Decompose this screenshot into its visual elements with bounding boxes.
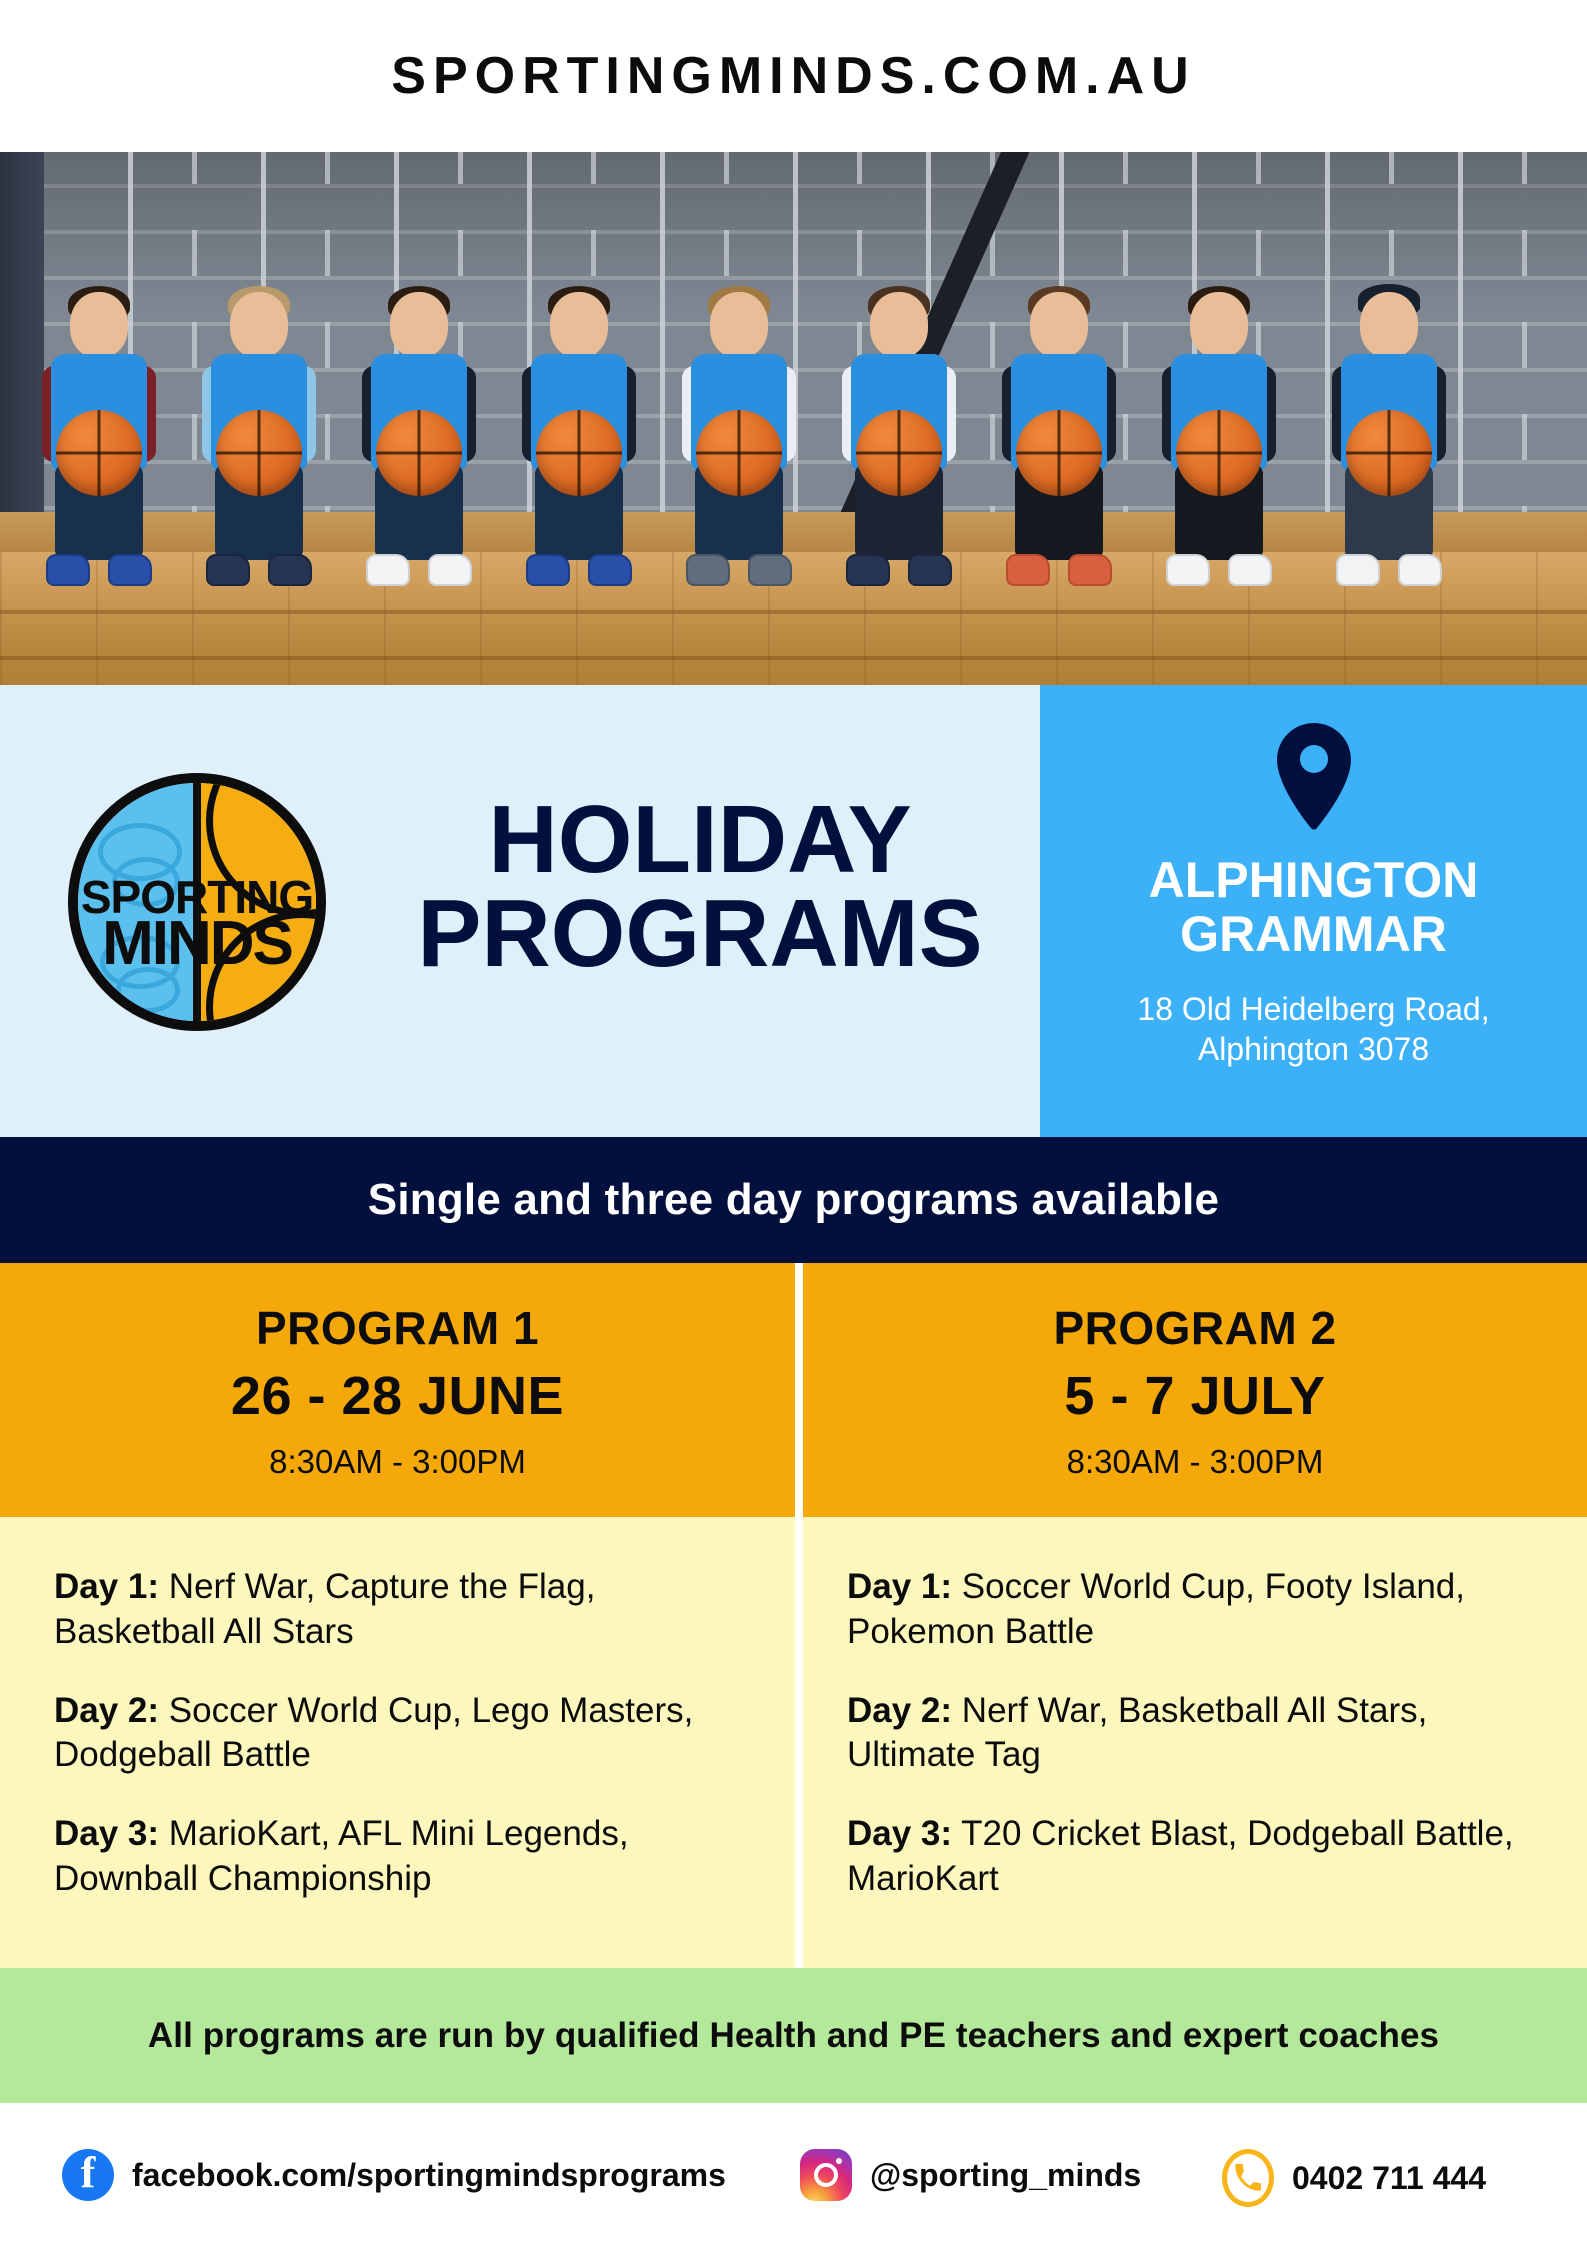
child-figure xyxy=(1330,292,1448,592)
child-figure xyxy=(360,292,478,592)
day-label: Day 3: xyxy=(54,1814,159,1853)
program-2-header: PROGRAM 2 5 - 7 JULY 8:30AM - 3:00PM xyxy=(803,1263,1587,1517)
facebook-icon[interactable] xyxy=(62,2149,114,2201)
availability-banner-text: Single and three day programs available xyxy=(368,1175,1219,1225)
venue-address: 18 Old Heidelberg Road, Alphington 3078 xyxy=(1080,989,1547,1069)
instagram-icon[interactable] xyxy=(800,2149,852,2201)
logo-wordmark: SPORTING MINDS xyxy=(56,877,338,972)
facebook-label[interactable]: facebook.com/sportingmindsprograms xyxy=(132,2157,726,2194)
venue-address-line2: Alphington 3078 xyxy=(1080,1029,1547,1069)
day-label: Day 2: xyxy=(54,1691,159,1730)
child-figure xyxy=(840,292,958,592)
phone-contact[interactable]: 0402 711 444 xyxy=(1222,2149,1486,2207)
floor-seam xyxy=(0,610,1587,614)
list-item: Day 2: Soccer World Cup, Lego Masters, D… xyxy=(54,1689,753,1779)
child-figure xyxy=(200,292,318,592)
website-header: SPORTINGMINDS.COM.AU xyxy=(0,0,1587,152)
program-1-activities: Day 1: Nerf War, Capture the Flag, Baske… xyxy=(0,1517,795,1968)
day-label: Day 1: xyxy=(847,1567,952,1606)
program-1-day-list: Day 1: Nerf War, Capture the Flag, Baske… xyxy=(0,1517,795,1902)
list-item: Day 2: Nerf War, Basketball All Stars, U… xyxy=(847,1689,1547,1779)
day-label: Day 2: xyxy=(847,1691,952,1730)
child-figure xyxy=(1160,292,1278,592)
program-2-dates: 5 - 7 JULY xyxy=(803,1365,1587,1427)
sporting-minds-logo: SPORTING MINDS xyxy=(68,773,326,1031)
phone-icon[interactable] xyxy=(1222,2149,1274,2207)
contact-footer: facebook.com/sportingmindsprograms @spor… xyxy=(0,2103,1587,2245)
list-item: Day 1: Soccer World Cup, Footy Island, P… xyxy=(847,1565,1547,1655)
venue-name-line2: GRAMMAR xyxy=(1080,907,1547,961)
venue-address-line1: 18 Old Heidelberg Road, xyxy=(1080,989,1547,1029)
wall-edge-post xyxy=(0,152,44,552)
program-2-title: PROGRAM 2 xyxy=(803,1301,1587,1355)
day-label: Day 3: xyxy=(847,1814,952,1853)
venue-name-line1: ALPHINGTON xyxy=(1080,853,1547,907)
page-title: HOLIDAY PROGRAMS xyxy=(380,793,1020,981)
list-item: Day 3: T20 Cricket Blast, Dodgeball Batt… xyxy=(847,1812,1547,1902)
map-pin-icon xyxy=(1273,721,1355,833)
child-figure xyxy=(680,292,798,592)
program-2-activities: Day 1: Soccer World Cup, Footy Island, P… xyxy=(803,1517,1587,1968)
child-figure xyxy=(520,292,638,592)
page-title-line2: PROGRAMS xyxy=(380,887,1020,981)
location-panel: ALPHINGTON GRAMMAR 18 Old Heidelberg Roa… xyxy=(1040,685,1587,1137)
facebook-contact[interactable]: facebook.com/sportingmindsprograms xyxy=(62,2149,726,2201)
hero-photo xyxy=(0,152,1587,685)
instagram-label[interactable]: @sporting_minds xyxy=(870,2157,1141,2194)
logo-wordmark-line2: MINDS xyxy=(56,917,338,972)
list-item: Day 1: Nerf War, Capture the Flag, Baske… xyxy=(54,1565,753,1655)
instagram-contact[interactable]: @sporting_minds xyxy=(800,2149,1141,2201)
floor-seam xyxy=(0,656,1587,660)
day-label: Day 1: xyxy=(54,1567,159,1606)
qualification-banner: All programs are run by qualified Health… xyxy=(0,1968,1587,2103)
flyer-page: SPORTINGMINDS.COM.AU xyxy=(0,0,1587,2245)
program-1-title: PROGRAM 1 xyxy=(0,1301,795,1355)
website-url: SPORTINGMINDS.COM.AU xyxy=(391,46,1195,106)
list-item: Day 3: MarioKart, AFL Mini Legends, Down… xyxy=(54,1812,753,1902)
program-1-dates: 26 - 28 JUNE xyxy=(0,1365,795,1427)
qualification-banner-text: All programs are run by qualified Health… xyxy=(148,2016,1439,2056)
page-title-line1: HOLIDAY xyxy=(380,793,1020,887)
program-2-day-list: Day 1: Soccer World Cup, Footy Island, P… xyxy=(803,1517,1587,1902)
program-1-time: 8:30AM - 3:00PM xyxy=(0,1443,795,1481)
program-1-header: PROGRAM 1 26 - 28 JUNE 8:30AM - 3:00PM xyxy=(0,1263,795,1517)
child-figure xyxy=(1000,292,1118,592)
venue-name: ALPHINGTON GRAMMAR xyxy=(1080,853,1547,961)
child-figure xyxy=(40,292,158,592)
program-2-time: 8:30AM - 3:00PM xyxy=(803,1443,1587,1481)
availability-banner: Single and three day programs available xyxy=(0,1137,1587,1263)
phone-label[interactable]: 0402 711 444 xyxy=(1292,2160,1486,2197)
